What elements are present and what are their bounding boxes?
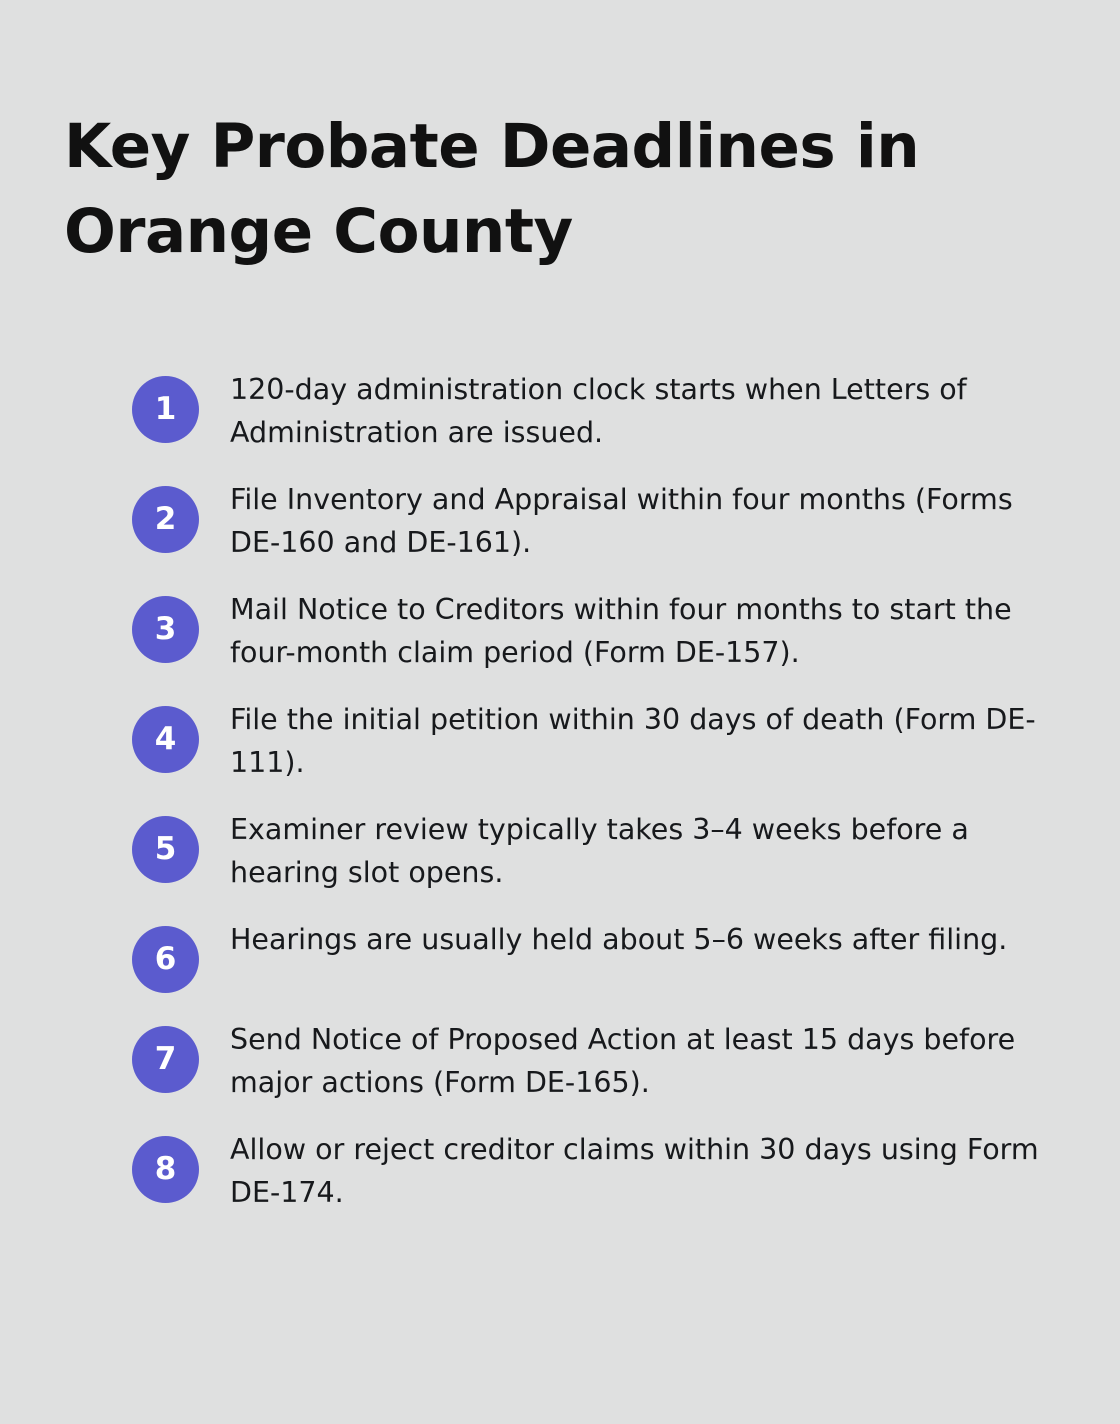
list-item: 6 Hearings are usually held about 5–6 we… [132, 918, 1062, 994]
list-item-badge: 2 [132, 486, 199, 553]
page-title: Key Probate Deadlines in Orange County [64, 104, 964, 274]
list-item-badge: 8 [132, 1136, 199, 1203]
infographic-root: Key Probate Deadlines in Orange County 1… [0, 0, 1120, 1424]
list-item-badge: 4 [132, 706, 199, 773]
list-item-number: 8 [155, 1154, 177, 1185]
list-item-text: Allow or reject creditor claims within 3… [199, 1128, 1062, 1214]
list-item: 8 Allow or reject creditor claims within… [132, 1128, 1062, 1214]
list-item-badge: 7 [132, 1026, 199, 1093]
list-item-text: 120-day administration clock starts when… [199, 368, 1062, 454]
list-item-badge: 5 [132, 816, 199, 883]
list-item-number: 5 [155, 834, 177, 865]
list-item-text: Examiner review typically takes 3–4 week… [199, 808, 1062, 894]
list-item: 3 Mail Notice to Creditors within four m… [132, 588, 1062, 674]
list-item-text: File Inventory and Appraisal within four… [199, 478, 1062, 564]
list-item-number: 3 [155, 614, 177, 645]
list-item: 7 Send Notice of Proposed Action at leas… [132, 1018, 1062, 1104]
list-item-number: 2 [155, 504, 177, 535]
list-item-text: File the initial petition within 30 days… [199, 698, 1062, 784]
deadline-list: 1 120-day administration clock starts wh… [132, 368, 1062, 1214]
list-item-text: Hearings are usually held about 5–6 week… [199, 918, 1062, 961]
list-item-number: 1 [155, 394, 177, 425]
list-item-number: 4 [155, 724, 177, 755]
list-item-badge: 3 [132, 596, 199, 663]
list-item-number: 6 [155, 944, 177, 975]
list-item: 1 120-day administration clock starts wh… [132, 368, 1062, 454]
title-block: Key Probate Deadlines in Orange County [64, 104, 964, 274]
list-item-badge: 6 [132, 926, 199, 993]
list-item-badge: 1 [132, 376, 199, 443]
list-item-number: 7 [155, 1044, 177, 1075]
list-item-text: Send Notice of Proposed Action at least … [199, 1018, 1062, 1104]
list-item: 5 Examiner review typically takes 3–4 we… [132, 808, 1062, 894]
list-item: 2 File Inventory and Appraisal within fo… [132, 478, 1062, 564]
list-item: 4 File the initial petition within 30 da… [132, 698, 1062, 784]
list-item-text: Mail Notice to Creditors within four mon… [199, 588, 1062, 674]
